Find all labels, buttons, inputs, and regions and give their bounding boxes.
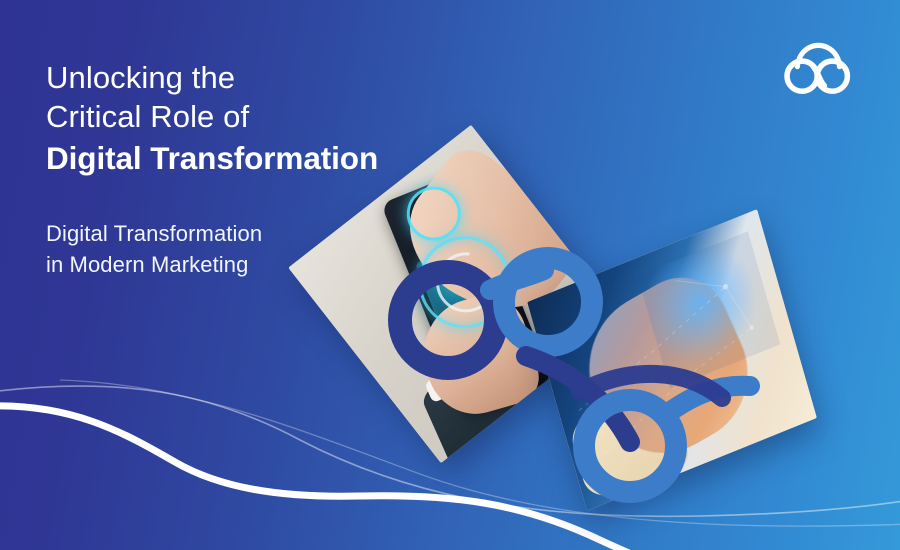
headline-line-1: Unlocking the bbox=[46, 60, 235, 95]
headline-line-2: Critical Role of bbox=[46, 99, 249, 134]
photo-collage bbox=[330, 160, 890, 520]
subtitle-line-1: Digital Transformation bbox=[46, 221, 262, 246]
infinity-cloud-logo[interactable] bbox=[778, 38, 858, 100]
subtitle-line-2: in Modern Marketing bbox=[46, 252, 248, 277]
promo-banner: Unlocking the Critical Role of Digital T… bbox=[0, 0, 900, 550]
